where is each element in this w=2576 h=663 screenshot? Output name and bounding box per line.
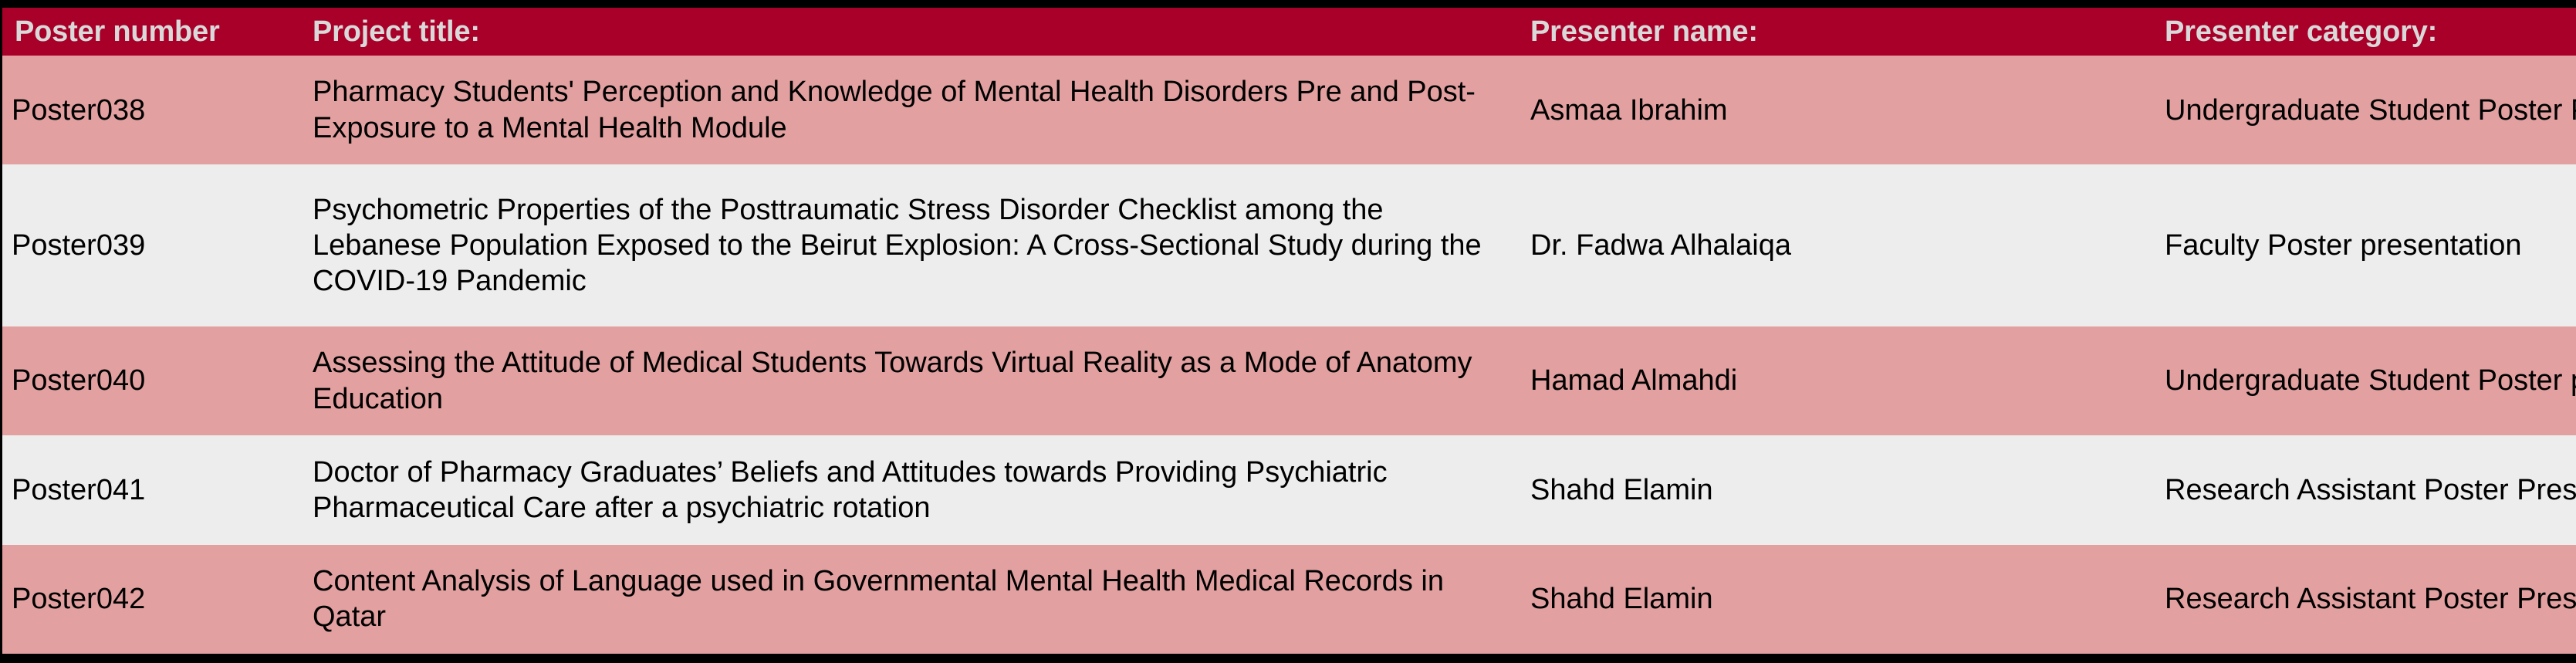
cell-poster-number: Poster038 — [2, 56, 296, 164]
cell-poster-number: Poster040 — [2, 326, 296, 435]
cell-poster-number: Poster039 — [2, 164, 296, 326]
poster-schedule-table: Poster number Project title: Presenter n… — [2, 8, 2576, 654]
cell-presenter-category: Research Assistant Poster Presentation — [2151, 435, 2576, 544]
poster-table-frame: Poster number Project title: Presenter n… — [0, 0, 2576, 663]
column-header-project-title: Project title: — [296, 8, 1516, 56]
column-header-poster-number: Poster number — [2, 8, 296, 56]
cell-project-title: Pharmacy Students' Perception and Knowle… — [296, 56, 1516, 164]
column-header-presenter-name: Presenter name: — [1516, 8, 2151, 56]
cell-presenter-category: Undergraduate Student Poster Presentatio… — [2151, 56, 2576, 164]
table-row: Poster039 Psychometric Properties of the… — [2, 164, 2576, 326]
table-row: Poster042 Content Analysis of Language u… — [2, 545, 2576, 654]
cell-poster-number: Poster042 — [2, 545, 296, 654]
table-row: Poster038 Pharmacy Students' Perception … — [2, 56, 2576, 164]
table-row: Poster041 Doctor of Pharmacy Graduates’ … — [2, 435, 2576, 544]
table-row: Poster040 Assessing the Attitude of Medi… — [2, 326, 2576, 435]
table-header: Poster number Project title: Presenter n… — [2, 8, 2576, 56]
table-header-row: Poster number Project title: Presenter n… — [2, 8, 2576, 56]
cell-presenter-category: Faculty Poster presentation — [2151, 164, 2576, 326]
cell-project-title: Assessing the Attitude of Medical Studen… — [296, 326, 1516, 435]
column-header-presenter-category: Presenter category: — [2151, 8, 2576, 56]
cell-presenter-name: Asmaa Ibrahim — [1516, 56, 2151, 164]
table-body: Poster038 Pharmacy Students' Perception … — [2, 56, 2576, 654]
cell-presenter-category: Undergraduate Student Poster presentatio… — [2151, 326, 2576, 435]
cell-presenter-category: Research Assistant Poster Presentation — [2151, 545, 2576, 654]
cell-project-title: Doctor of Pharmacy Graduates’ Beliefs an… — [296, 435, 1516, 544]
cell-presenter-name: Dr. Fadwa Alhalaiqa — [1516, 164, 2151, 326]
cell-presenter-name: Shahd Elamin — [1516, 435, 2151, 544]
cell-poster-number: Poster041 — [2, 435, 296, 544]
cell-project-title: Content Analysis of Language used in Gov… — [296, 545, 1516, 654]
cell-presenter-name: Shahd Elamin — [1516, 545, 2151, 654]
cell-project-title: Psychometric Properties of the Posttraum… — [296, 164, 1516, 326]
cell-presenter-name: Hamad Almahdi — [1516, 326, 2151, 435]
